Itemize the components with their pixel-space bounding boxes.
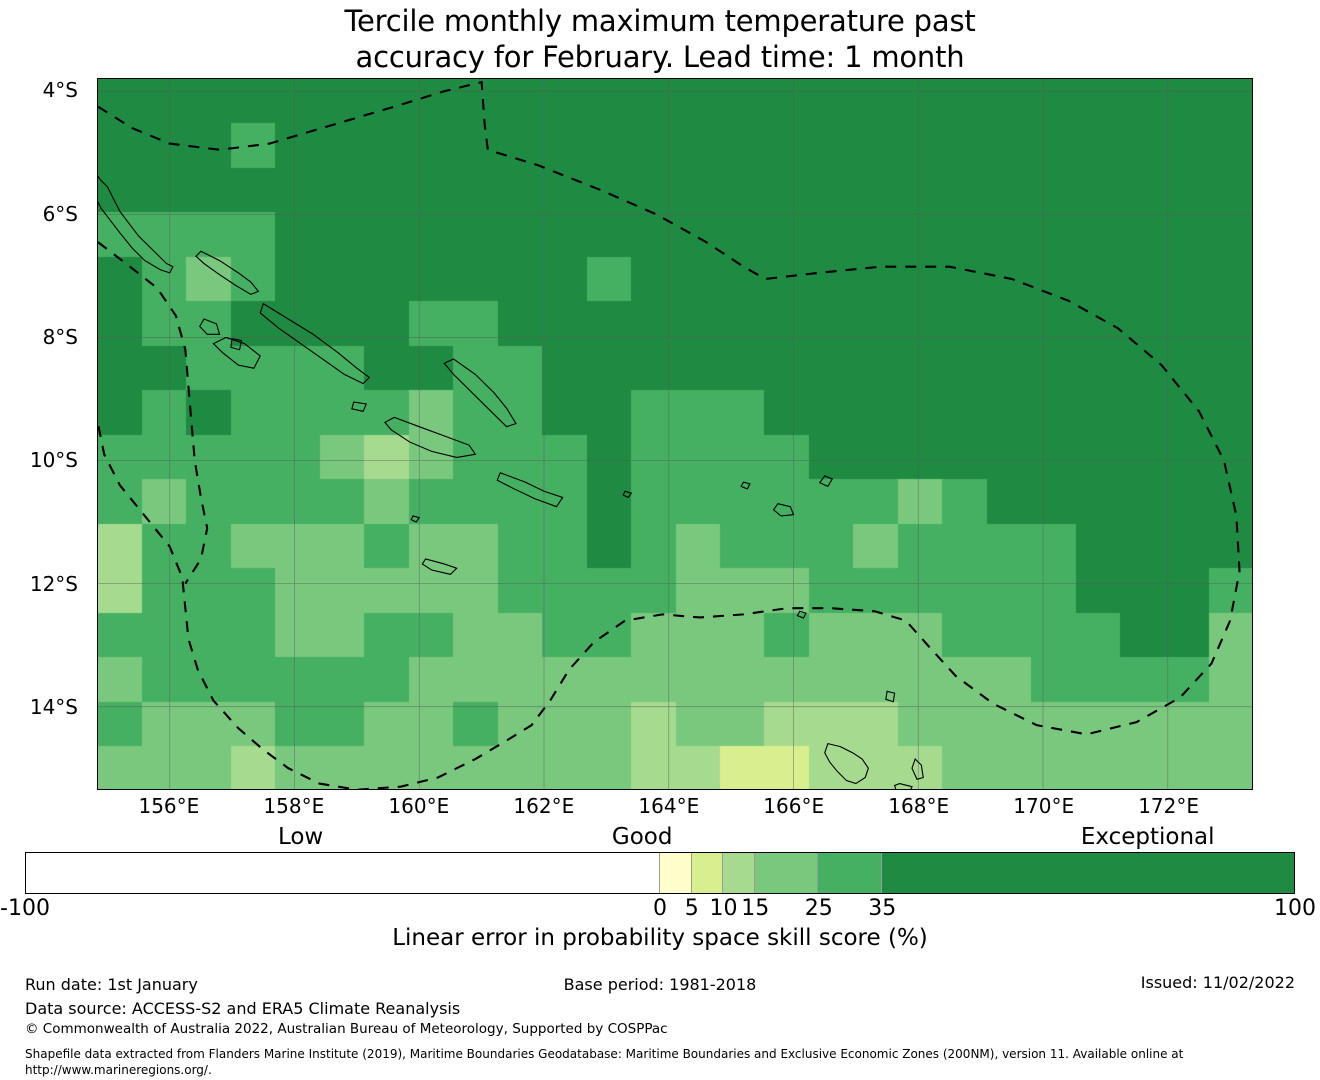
y-tick-10°S: 10°S — [0, 450, 78, 470]
colorbar[interactable] — [25, 852, 1295, 894]
y-tick-4°S: 4°S — [0, 80, 78, 100]
x-tick-172°E: 172°E — [1089, 795, 1249, 817]
title-line-2: accuracy for February. Lead time: 1 mont… — [0, 39, 1320, 75]
y-tick-14°S: 14°S — [0, 697, 78, 717]
page-title: Tercile monthly maximum temperature past… — [0, 0, 1320, 75]
base-period: Base period: 1981-2018 — [0, 975, 1320, 995]
colorbar-category-good: Good — [462, 825, 822, 849]
colorbar-tick-35: 35 — [782, 897, 982, 921]
skill-score-heatmap — [98, 79, 1253, 790]
map-plot-area — [97, 78, 1253, 790]
colorbar-segment-4 — [755, 853, 818, 893]
colorbar-segment-5 — [818, 853, 881, 893]
colorbar-tick--100: -100 — [0, 897, 125, 921]
colorbar-gradient — [25, 852, 1295, 894]
colorbar-segment-0 — [26, 853, 660, 893]
y-tick-12°S: 12°S — [0, 574, 78, 594]
data-source: Data source: ACCESS-S2 and ERA5 Climate … — [25, 999, 460, 1019]
colorbar-category-exceptional: Exceptional — [968, 825, 1320, 849]
colorbar-segment-2 — [692, 853, 724, 893]
colorbar-category-low: Low — [121, 825, 481, 849]
shapefile-attribution: Shapefile data extracted from Flanders M… — [25, 1046, 1265, 1078]
y-tick-8°S: 8°S — [0, 327, 78, 347]
colorbar-segment-3 — [723, 853, 755, 893]
colorbar-segment-1 — [660, 853, 692, 893]
copyright-notice: © Commonwealth of Australia 2022, Austra… — [25, 1021, 668, 1038]
colorbar-segment-6 — [882, 853, 1294, 893]
issued-date: Issued: 11/02/2022 — [1141, 973, 1295, 993]
colorbar-title: Linear error in probability space skill … — [0, 925, 1320, 951]
colorbar-tick-100: 100 — [1195, 897, 1320, 921]
map-frame — [97, 78, 1253, 790]
title-line-1: Tercile monthly maximum temperature past — [0, 3, 1320, 39]
y-tick-6°S: 6°S — [0, 204, 78, 224]
